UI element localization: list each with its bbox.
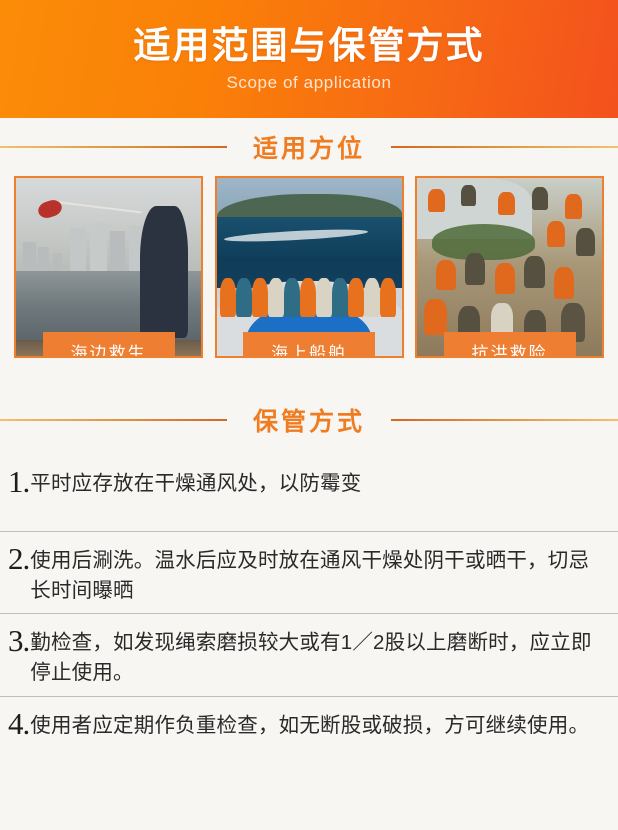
section-heading-storage: 保管方式 [0, 391, 618, 449]
beach-rescue-photo [16, 178, 201, 356]
scope-card[interactable]: 抗洪救险 [415, 176, 604, 358]
list-item-number: 4. [8, 704, 30, 744]
list-item-number: 1. [8, 462, 30, 502]
list-item-number: 2. [8, 539, 30, 579]
scope-card-label: 海边救生 [43, 332, 175, 358]
list-item-number: 3. [8, 621, 30, 661]
list-item-text: 使用后涮洗。温水后应及时放在通风干燥处阴干或晒干，切忌长时间曝晒 [30, 539, 606, 605]
storage-instruction-list: 1. 平时应存放在干燥通风处，以防霉变 2. 使用后涮洗。温水后应及时放在通风干… [0, 455, 618, 772]
list-item-text: 平时应存放在干燥通风处，以防霉变 [30, 462, 606, 499]
scope-card-label: 海上船舶 [243, 332, 375, 358]
page-header: 适用范围与保管方式 Scope of application [0, 0, 618, 118]
list-item-text: 使用者应定期作负重检查，如无断股或破损，方可继续使用。 [30, 704, 606, 741]
divider-line-right [391, 419, 618, 421]
divider-line-left [0, 419, 227, 421]
section-heading-scope: 适用方位 [0, 118, 618, 176]
section-heading-scope-label: 适用方位 [227, 129, 391, 165]
list-item: 2. 使用后涮洗。温水后应及时放在通风干燥处阴干或晒干，切忌长时间曝晒 [0, 531, 618, 613]
list-item: 4. 使用者应定期作负重检查，如无断股或破损，方可继续使用。 [0, 696, 618, 772]
scope-card[interactable]: 海上船舶 [215, 176, 404, 358]
scope-card-list: 海边救生 海上船舶 [0, 176, 618, 358]
flood-rescue-photo [417, 178, 602, 356]
scope-card-label: 抗洪救险 [444, 332, 576, 358]
list-item-text: 勤检查，如发现绳索磨损较大或有1／2股以上磨断时，应立即停止使用。 [30, 621, 606, 687]
passenger-group [220, 278, 398, 317]
divider-line-right [391, 146, 618, 148]
divider-line-left [0, 146, 227, 148]
page-title: 适用范围与保管方式 [134, 25, 485, 68]
rescue-worker-group [417, 178, 602, 356]
sea-vessel-photo [217, 178, 402, 356]
scope-card[interactable]: 海边救生 [14, 176, 203, 358]
list-item: 3. 勤检查，如发现绳索磨损较大或有1／2股以上磨断时，应立即停止使用。 [0, 613, 618, 695]
page-subtitle: Scope of application [226, 73, 391, 93]
list-item: 1. 平时应存放在干燥通风处，以防霉变 [0, 455, 618, 531]
section-heading-storage-label: 保管方式 [227, 402, 391, 438]
